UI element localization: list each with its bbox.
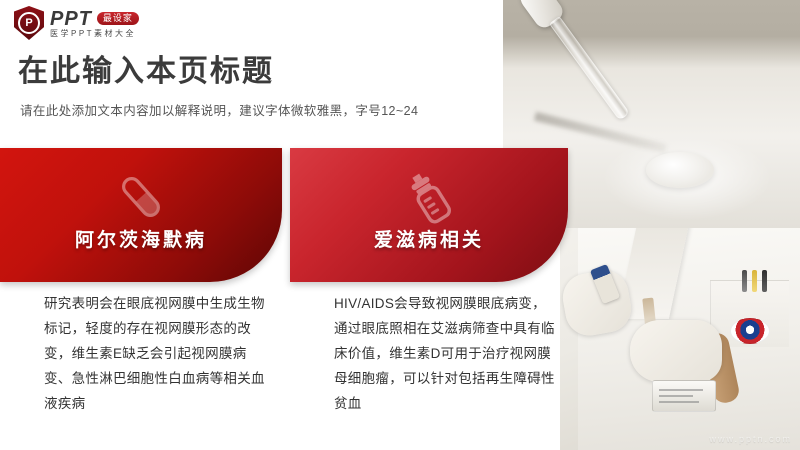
pipette-tube — [549, 16, 630, 121]
pipette-shadow — [534, 112, 667, 153]
category-panel-aids[interactable]: 爱滋病相关 — [290, 148, 568, 282]
page-subtitle: 请在此处添加文本内容加以解释说明，建议字体微软雅黑，字号12~24 — [20, 100, 418, 119]
slide-canvas: www.pptn.com P PPT 最设家 医学PPT素材大全 在此输入本页标… — [0, 0, 800, 450]
badge-text-line — [659, 401, 699, 403]
capsule-pill-icon — [0, 166, 282, 228]
category-panels: 阿尔茨海默病 爱滋病相关 — [0, 148, 568, 282]
logo-text-group: PPT 最设家 医学PPT素材大全 — [50, 9, 139, 38]
panel-label: 爱滋病相关 — [290, 225, 568, 252]
badge-text-line — [659, 395, 693, 397]
coat-emblem-icon — [730, 318, 770, 344]
lab-technician-photo: www.pptn.com — [560, 228, 800, 450]
panel-label: 阿尔茨海默病 — [0, 225, 282, 252]
shield-icon: P — [14, 6, 44, 40]
badge-text-line — [659, 389, 703, 391]
logo-tagline: 医学PPT素材大全 — [50, 30, 139, 38]
logo-brand: PPT — [50, 9, 92, 29]
baby-bottle-icon — [290, 166, 568, 228]
logo-top-row: PPT 最设家 — [50, 9, 139, 29]
gloved-hand-right — [630, 320, 722, 382]
pocket-pen-icon — [752, 270, 757, 292]
panel-body-aids: HIV/AIDS会导致视网膜眼底病变，通过眼底照相在艾滋病筛查中具有临床价值，维… — [334, 292, 556, 417]
id-badge — [652, 380, 716, 412]
pocket-pen-icon — [742, 270, 747, 292]
page-title: 在此输入本页标题 — [18, 55, 274, 90]
watermark: www.pptn.com — [709, 434, 792, 444]
category-panel-alzheimer[interactable]: 阿尔茨海默病 — [0, 148, 282, 282]
panel-body-alzheimer: 研究表明会在眼底视网膜中生成生物标记，轻度的存在视网膜形态的改变，维生素E缺乏会… — [44, 292, 266, 417]
brand-logo[interactable]: P PPT 最设家 医学PPT素材大全 — [14, 6, 139, 40]
logo-badge: 最设家 — [97, 12, 139, 25]
liquid-droplet — [646, 152, 714, 188]
shield-letter: P — [18, 12, 40, 34]
pocket-pen-icon — [762, 270, 767, 292]
pipette-icon — [515, 0, 636, 127]
